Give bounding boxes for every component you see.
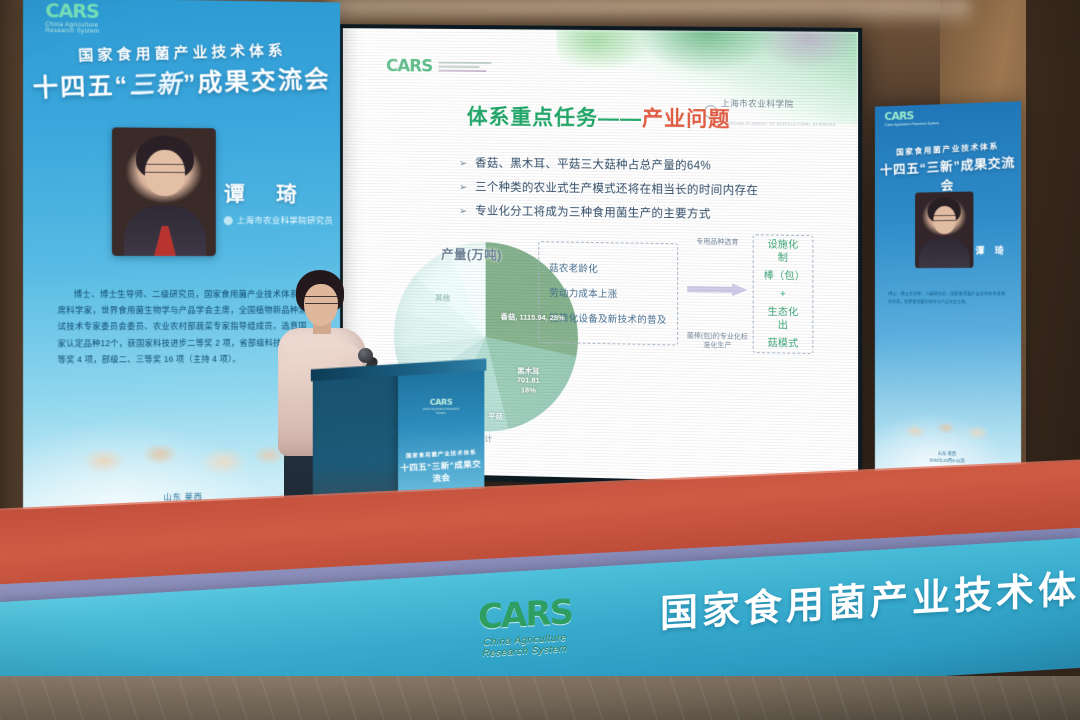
stage-banner-title: 国家食用菌产业技术体	[660, 558, 1080, 638]
glasses-icon	[933, 215, 955, 221]
bullet-arrow-icon: ➢	[459, 156, 467, 171]
solution-plus-sign: +	[780, 288, 786, 301]
affiliation-text: 上海市农业科学院研究员	[237, 214, 333, 226]
pie-slice-label-other: 其他	[435, 293, 463, 303]
solution-line-4: 菇模式	[767, 337, 798, 351]
cars-logo-mark: CARS	[45, 0, 99, 23]
pie-chart-title: 产量(万吨)	[441, 244, 502, 264]
bullet-item: ➢ 三个种类的农业式生产模式还将在相当长的时间内存在	[459, 180, 809, 200]
presenter-face	[304, 284, 338, 326]
cars-logo-tagline: China Agriculture Research System	[419, 407, 462, 415]
ceiling-light-glow	[330, 0, 970, 26]
bullet-arrow-icon: ➢	[459, 204, 467, 219]
stage-cars-logo: CARS China Agriculture Research System	[478, 592, 572, 660]
floor-tiling	[0, 676, 1080, 720]
slide-title-dash: ——	[598, 107, 642, 130]
banner-left-title-line2: 十四五“三新”成果交流会	[23, 59, 340, 105]
solution-line-3: 生态化出	[764, 305, 802, 332]
bullet-item: ➢ 香菇、黑木耳、平菇三大菇种占总产量的64%	[459, 156, 809, 175]
slide-title-main: 体系重点任务	[467, 106, 598, 130]
conference-stage-photo: CARS 上海市农业科学院 SHANGHAI ACADEMY OF AGRICU…	[0, 0, 1080, 720]
podium-logo: CARS China Agriculture Research System	[419, 398, 462, 415]
speaker-portrait-right	[915, 191, 973, 268]
slide-title: 体系重点任务——产业问题	[343, 99, 858, 134]
glasses-icon	[145, 164, 185, 173]
cars-logo-mark: CARS	[419, 398, 462, 407]
problem-box: 菇农老龄化 劳动力成本上涨 轻简化设备及新技术的普及	[538, 241, 678, 345]
footer-location: 山东 莱西	[938, 451, 956, 457]
speaker-name-right: 谭 琦	[975, 243, 1007, 256]
bullet-arrow-icon: ➢	[459, 180, 467, 195]
pie-slice-label-blackfungus: 黑木耳 701.81 18%	[510, 366, 546, 395]
problem-item: 菇农老龄化	[549, 260, 667, 276]
speaker-name-left: 谭 琦	[224, 178, 310, 208]
floor	[0, 676, 1080, 720]
problem-item: 轻简化设备及新技术的普及	[549, 310, 667, 326]
pie-slice-label-shiitake: 香菇, 1115.94, 28%	[501, 312, 565, 323]
cars-logo-mark: CARS	[478, 592, 572, 638]
transition-top-caption: 专用品种选育	[696, 237, 738, 247]
cars-logo-tagline-2: Research System	[45, 28, 99, 35]
portrait-body	[919, 238, 970, 268]
slide-bullet-list: ➢ 香菇、黑木耳、平菇三大菇种占总产量的64% ➢ 三个种类的农业式生产模式还将…	[459, 156, 809, 224]
right-arrow-icon	[687, 282, 747, 296]
transition-group: 专用品种选育 菌棒(包)的专业化标准化生产	[684, 237, 750, 351]
solution-line-1: 设施化制	[764, 238, 802, 265]
bullet-item: ➢ 专业化分工将成为三种食用菌生产的主要方式	[459, 204, 809, 224]
banner-right-logo: CARS China Agriculture Research System	[884, 108, 939, 127]
mushroom-illustration	[898, 413, 995, 446]
banner-left-logo: CARS China Agriculture Research System	[45, 0, 99, 35]
banner-right-title-line2: 十四五“三新”成果交流会	[875, 151, 1021, 198]
transition-bottom-caption: 菌棒(包)的专业化标准化生产	[684, 331, 750, 351]
glasses-icon	[305, 296, 339, 304]
title-suffix: ”成果交流会	[182, 66, 331, 98]
footer-date: 2024年10月9-11日	[929, 457, 964, 463]
bullet-text: 专业化分工将成为三种食用菌生产的主要方式	[475, 204, 711, 222]
bullet-text: 香菇、黑木耳、平菇三大菇种占总产量的64%	[475, 157, 711, 174]
title-highlight: 三新	[926, 159, 953, 176]
speaker-portrait-left	[112, 127, 216, 256]
bullet-text: 三个种类的农业式生产模式还将在相当长的时间内存在	[475, 180, 758, 198]
cars-logo-mark: CARS	[386, 56, 432, 76]
solution-line-2: 棒（包）	[764, 269, 802, 283]
bullet-dot-icon	[224, 216, 233, 225]
cars-logo-tagline	[438, 60, 491, 74]
conference-banner-right: CARS China Agriculture Research System 国…	[875, 101, 1021, 486]
microphone-icon	[358, 348, 373, 363]
title-highlight: 三新	[129, 70, 184, 100]
podium-title-line2: 十四五“三新”成果交流会	[397, 458, 485, 487]
speaker-bio-right: 博士、博士生导师、二级研究员，国家食用菌产业技术体系首席科学家，世界食用菌生物学…	[888, 290, 1005, 306]
slide-title-accent: 产业问题	[642, 107, 730, 131]
cars-logo-tagline: China Agriculture Research System	[884, 121, 939, 127]
problem-item: 劳动力成本上涨	[549, 285, 667, 301]
title-prefix: 十四五“	[32, 72, 129, 103]
speaker-affiliation-left: 上海市农业科学院研究员	[224, 214, 333, 226]
slide-cars-logo: CARS	[386, 56, 492, 77]
solution-box: 设施化制 棒（包） + 生态化出 菇模式	[753, 234, 814, 354]
title-prefix: 十四五“	[880, 160, 927, 178]
